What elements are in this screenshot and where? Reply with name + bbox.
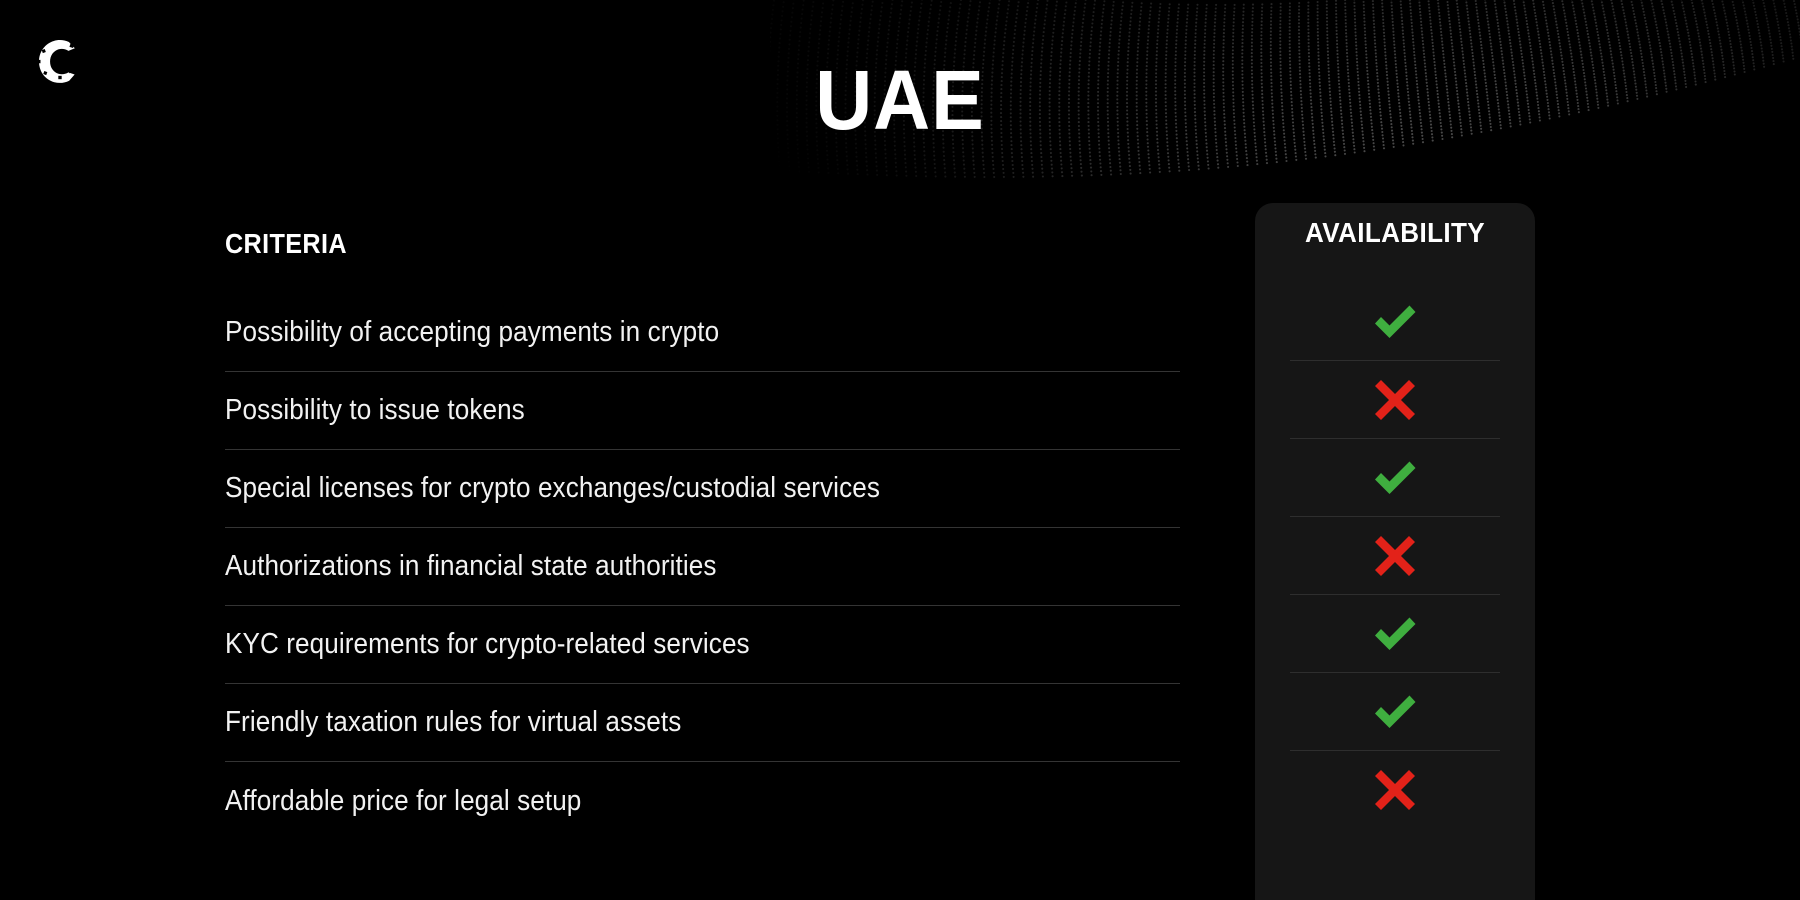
- criteria-list: Possibility of accepting payments in cry…: [225, 294, 1180, 840]
- table-row: KYC requirements for crypto-related serv…: [225, 606, 1180, 684]
- availability-row: [1290, 283, 1500, 361]
- criteria-label: Friendly taxation rules for virtual asse…: [225, 706, 681, 739]
- availability-row: [1290, 751, 1500, 829]
- criteria-column: CRITERIA Possibility of accepting paymen…: [225, 228, 1180, 840]
- cross-icon: [1369, 764, 1421, 816]
- criteria-label: Authorizations in financial state author…: [225, 550, 717, 583]
- page-title: UAE: [54, 58, 1746, 142]
- availability-column-header: AVAILABILITY: [1265, 203, 1525, 249]
- check-icon: [1369, 296, 1421, 348]
- availability-row: [1290, 517, 1500, 595]
- availability-row: [1290, 673, 1500, 751]
- table-row: Possibility to issue tokens: [225, 372, 1180, 450]
- table-row: Special licenses for crypto exchanges/cu…: [225, 450, 1180, 528]
- criteria-label: Possibility of accepting payments in cry…: [225, 316, 719, 349]
- table-row: Friendly taxation rules for virtual asse…: [225, 684, 1180, 762]
- criteria-label: Possibility to issue tokens: [225, 394, 525, 427]
- criteria-column-header: CRITERIA: [225, 228, 1085, 260]
- availability-card: AVAILABILITY: [1255, 203, 1535, 900]
- criteria-label: KYC requirements for crypto-related serv…: [225, 628, 750, 661]
- table-row: Affordable price for legal setup: [225, 762, 1180, 840]
- cross-icon: [1369, 530, 1421, 582]
- cross-icon: [1369, 374, 1421, 426]
- check-icon: [1369, 452, 1421, 504]
- slide-root: UAE CRITERIA Possibility of accepting pa…: [0, 0, 1800, 900]
- availability-row: [1290, 439, 1500, 517]
- table-row: Possibility of accepting payments in cry…: [225, 294, 1180, 372]
- check-icon: [1369, 686, 1421, 738]
- criteria-label: Affordable price for legal setup: [225, 785, 581, 818]
- availability-row: [1290, 361, 1500, 439]
- check-icon: [1369, 608, 1421, 660]
- table-row: Authorizations in financial state author…: [225, 528, 1180, 606]
- availability-list: [1255, 283, 1535, 829]
- criteria-label: Special licenses for crypto exchanges/cu…: [225, 472, 880, 505]
- availability-row: [1290, 595, 1500, 673]
